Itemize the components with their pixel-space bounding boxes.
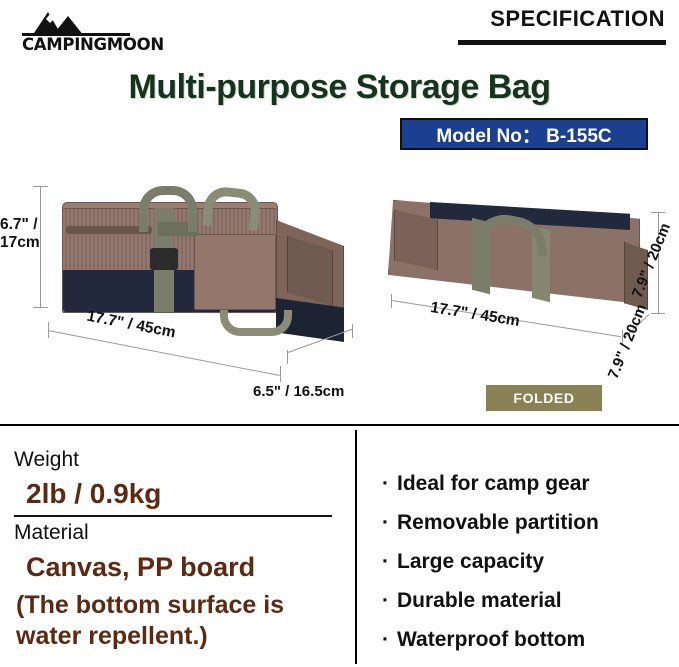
list-item: ·Removable partition [382,511,672,535]
dim-open-height-tick-top [33,186,48,187]
feature-text: Removable partition [397,511,599,534]
folded-badge: FOLDED [486,385,602,411]
dim-open-depth-tick-right [352,324,353,338]
page-title: SPECIFICATION [490,6,665,32]
open-bag-illustration [44,178,344,358]
list-item: ·Large capacity [382,550,672,574]
folded-bag-panel [394,210,438,270]
feature-list: ·Ideal for camp gear ·Removable partitio… [382,472,672,667]
bullet-icon: · [382,628,389,651]
dim-open-height-line1: 6.7" / [0,216,40,234]
material-value: Canvas, PP board [26,553,255,583]
brand-name: CAMPINGMOON [22,35,164,54]
bullet-icon: · [382,550,389,573]
dim-folded-height-tick-top [651,212,665,213]
model-number-badge: Model No： B-155C [400,118,648,150]
dim-open-depth-label: 6.5" / 16.5cm [253,383,344,400]
feature-text: Waterproof bottom [397,628,585,651]
specs-divider [14,515,332,517]
list-item: ·Durable material [382,589,672,613]
bag-buckle [150,248,178,270]
feature-text: Ideal for camp gear [397,472,590,495]
dim-open-height-tick-bottom [33,307,48,308]
material-note: (The bottom surface is water repellent.) [16,590,356,651]
dim-open-depth-tick-left [287,350,288,364]
material-label: Material [14,521,89,545]
horizontal-divider [0,424,679,426]
bullet-icon: · [382,472,389,495]
bag-handle-right [202,185,262,231]
brand-logo: CAMPINGMOON [22,8,152,52]
dim-open-height-line2: 17cm [0,234,40,252]
feature-text: Durable material [397,589,562,612]
list-item: ·Waterproof bottom [382,628,672,652]
dim-open-length-tick-left [48,322,49,338]
dim-open-height-label: 6.7" / 17cm [0,216,40,252]
weight-value: 2lb / 0.9kg [26,478,161,510]
weight-label: Weight [14,448,79,472]
bullet-icon: · [382,589,389,612]
title-rule [458,40,666,45]
folded-bag-illustration [388,190,656,330]
dim-open-height-line [40,186,41,308]
bag-front-panel [194,234,276,310]
list-item: ·Ideal for camp gear [382,472,672,496]
bullet-icon: · [382,511,389,534]
dim-folded-length-tick-left [391,294,392,308]
feature-text: Large capacity [397,550,544,573]
bag-handle-left [139,186,197,232]
product-name: Multi-purpose Storage Bag [0,68,679,107]
dim-open-length-tick-right [280,366,281,382]
page-header: CAMPINGMOON SPECIFICATION [0,0,679,58]
bag-side-handle [220,310,292,336]
dim-folded-height-tick-bottom [651,313,665,314]
